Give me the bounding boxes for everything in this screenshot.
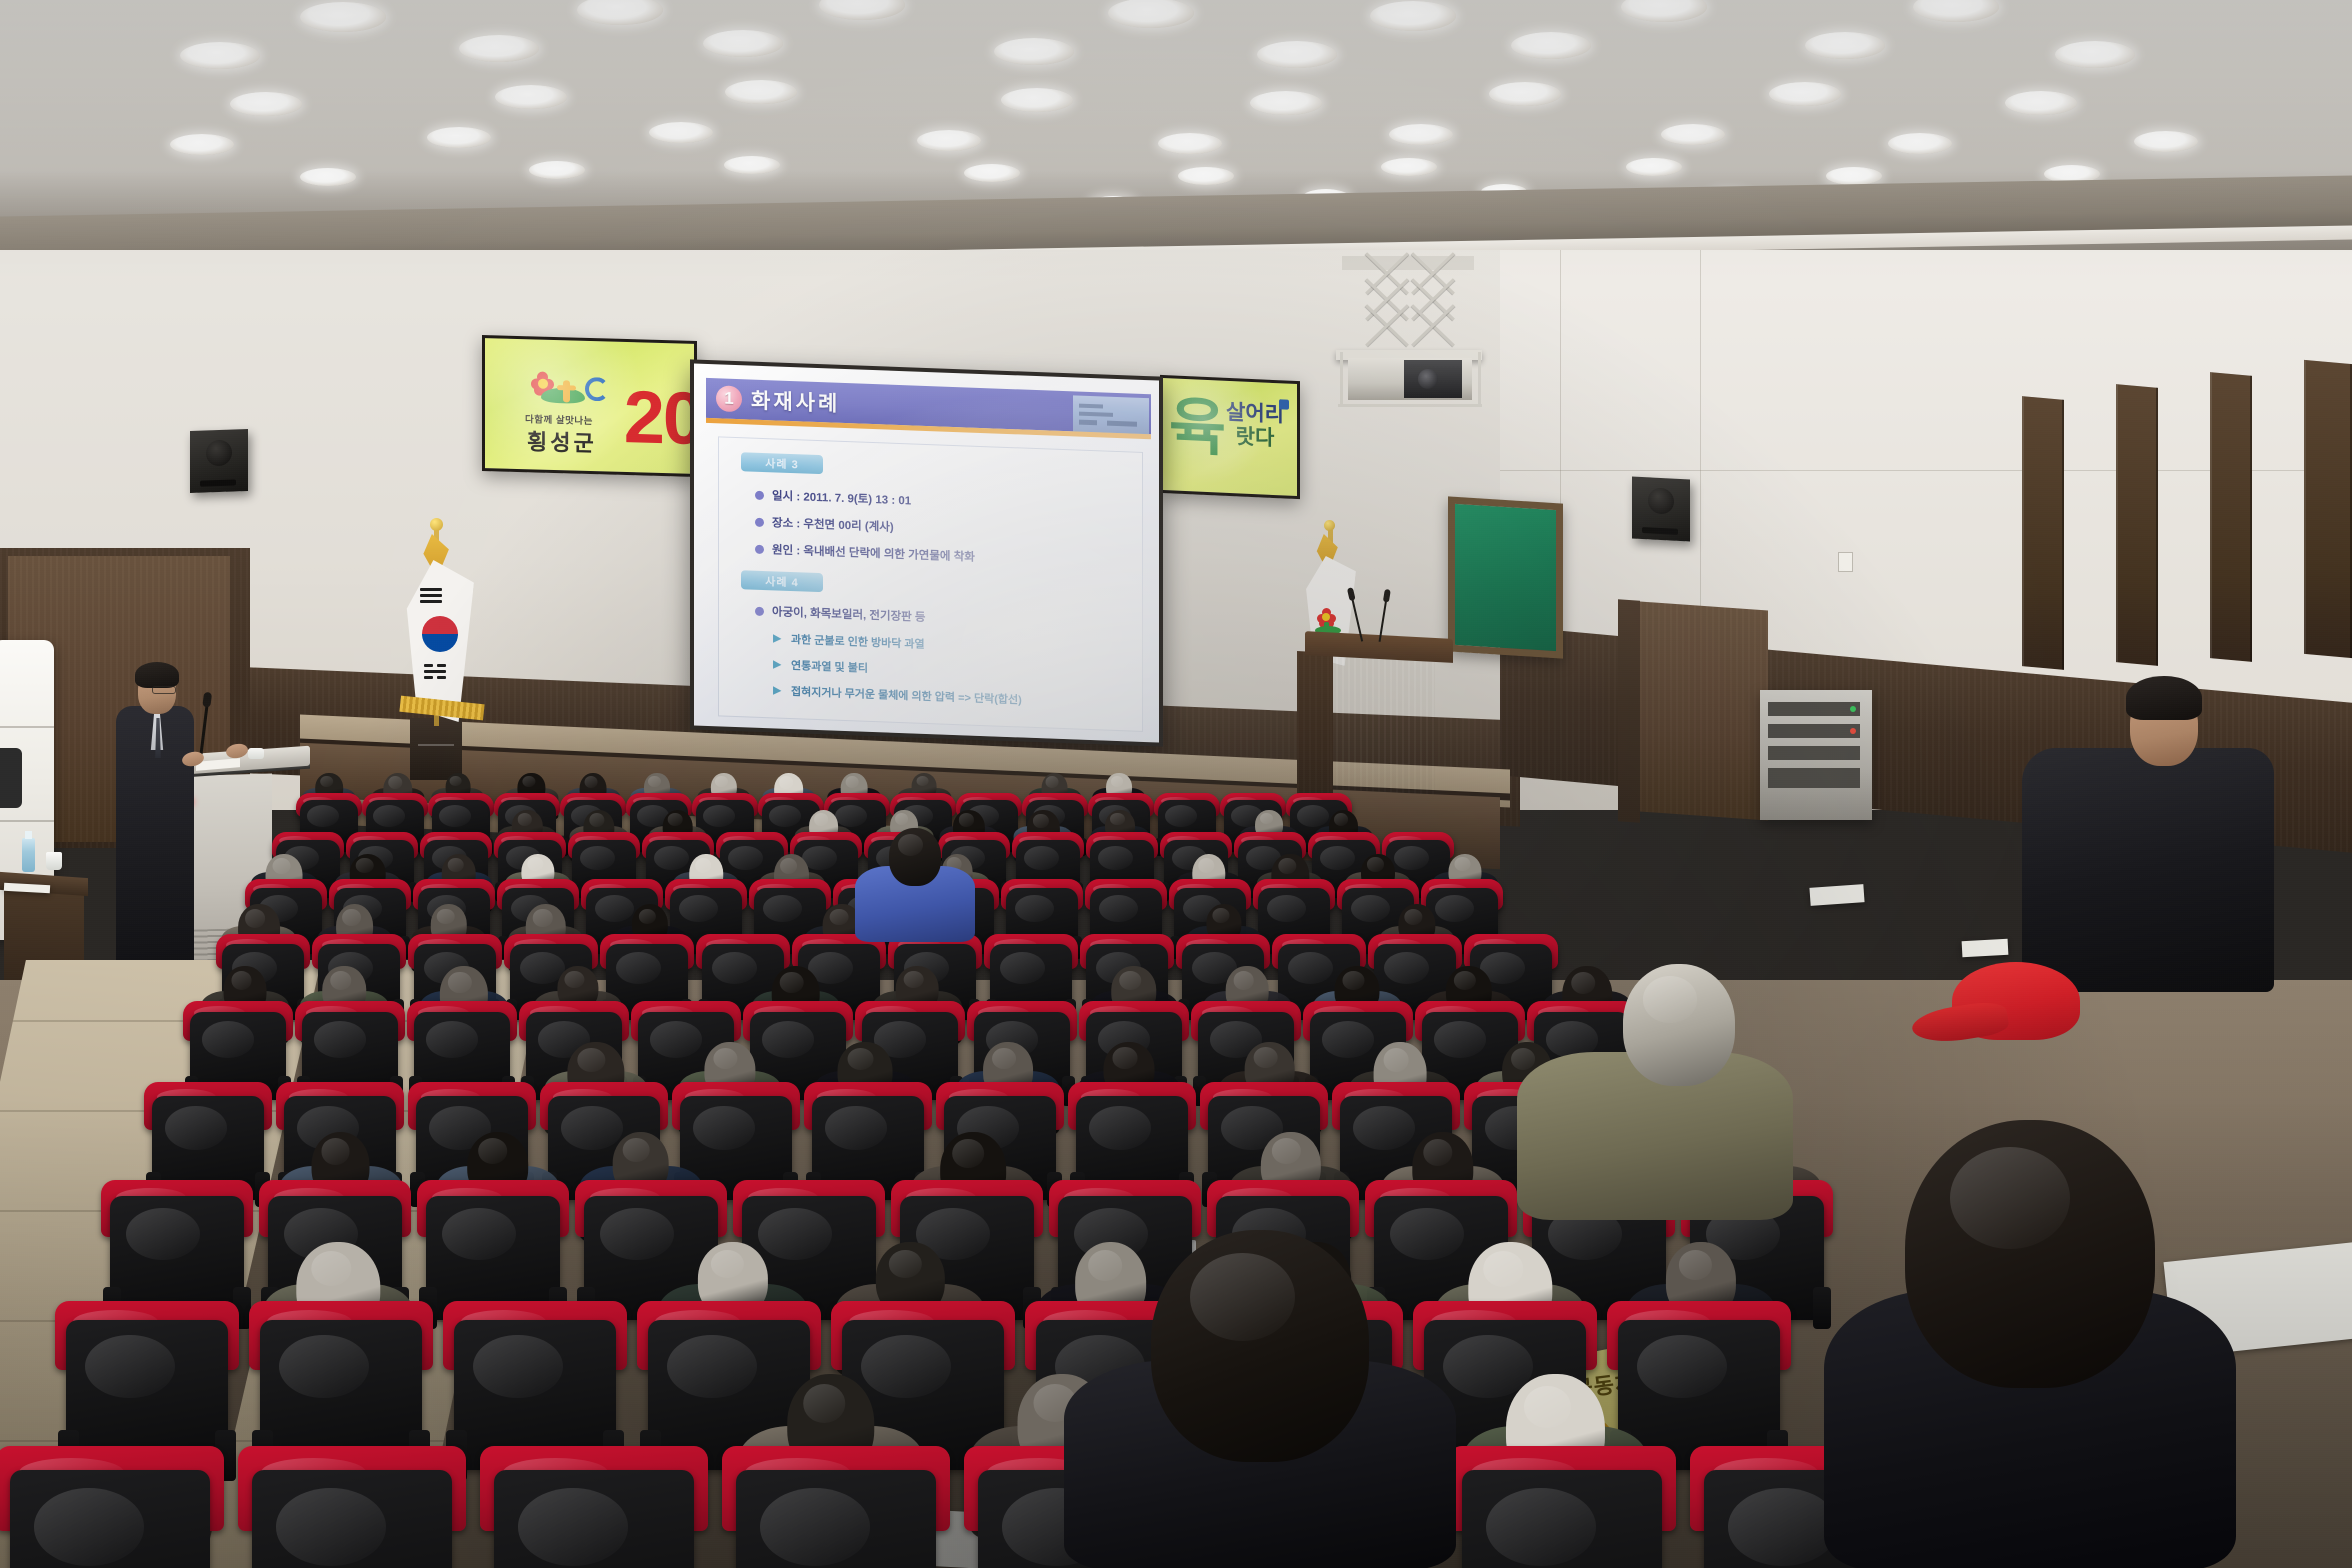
auditorium-seat[interactable] (10, 1470, 210, 1568)
slide-chip-bottom: 사례 4 (741, 570, 823, 592)
seat-back (736, 1470, 936, 1568)
slide-body: 사례 3 일시 : 2011. 7. 9(토) 13 : 01 장소 : 우천면… (718, 436, 1143, 732)
attendee-head (889, 828, 941, 886)
attendee-head (1905, 1120, 2155, 1388)
handout-sheet[interactable] (1809, 884, 1864, 906)
ceiling-downlight (724, 156, 780, 174)
auditorium-scene: 다함께 살맛나는 횡성군 20 육 살어리 랏다 1 화재사례 사 (0, 0, 2352, 1568)
presenter-glasses-icon (152, 686, 176, 694)
ceiling-downlight (180, 42, 260, 69)
slide-bullets-bottom: 아궁이, 화목보일러, 전기장판 등 ▶ 과한 군불로 인한 방바닥 과열 ▶ … (755, 603, 1022, 718)
banner-education: 육 살어리 랏다 (1160, 375, 1300, 499)
projection-screen: 1 화재사례 사례 3 일시 : 2011. 7. 9(토) 13 : 01 (694, 363, 1159, 742)
handout-sheet[interactable] (1962, 939, 2009, 957)
wall-recess-slot (2304, 360, 2352, 658)
banner-county-name: 횡성군 (527, 424, 597, 458)
projector-lens (1404, 360, 1462, 398)
bullet-text: 일시 : 2011. 7. 9(토) 13 : 01 (772, 487, 911, 508)
flower-icon (531, 371, 555, 396)
wall-recess-slot (2116, 384, 2158, 666)
ceiling-downlight (495, 85, 567, 109)
standing-man-hair (2126, 676, 2202, 720)
flag-finial-icon (430, 518, 443, 531)
ceiling-downlight (994, 38, 1074, 65)
ceiling-downlight (2005, 91, 2077, 115)
bullet-row: 아궁이, 화목보일러, 전기장판 등 (755, 603, 1022, 629)
bullet-text: 장소 : 우천면 00리 (계사) (772, 514, 894, 534)
presenter-hair (135, 662, 179, 688)
bullet-text: 아궁이, 화목보일러, 전기장판 등 (772, 603, 926, 625)
wall-speaker-left (190, 429, 248, 493)
ceiling-downlight (1661, 124, 1725, 145)
auditorium-seat[interactable] (252, 1470, 452, 1568)
auditorium-seat[interactable] (1462, 1470, 1662, 1568)
wall-recess-slot (2022, 396, 2064, 670)
ceiling-downlight (1370, 1, 1456, 31)
bullet-row-sub: ▶ 연통과열 및 불티 (773, 656, 1022, 681)
flag-finial-icon (1324, 520, 1335, 531)
lectern-side-panel (1297, 651, 1333, 801)
banner-edu-fragment: 육 (1169, 396, 1226, 461)
auditorium-seat[interactable] (736, 1470, 936, 1568)
ceiling-downlight (170, 134, 234, 155)
bullet-row: 장소 : 우천면 00리 (계사) (755, 514, 975, 538)
ceiling-downlight (1769, 82, 1841, 106)
hoengseong-logo (523, 371, 615, 408)
bullet-dot-icon (755, 606, 764, 615)
water-bottle[interactable] (22, 838, 35, 872)
calligraphy-line-2: 랏다 (1223, 425, 1287, 452)
banner-slogan: 다함께 살맛나는 (525, 411, 593, 427)
bullet-row: 원인 : 옥내배선 단락에 의한 가연물에 착화 (755, 541, 975, 565)
ceiling-downlight (1826, 167, 1882, 185)
ceiling-downlight (427, 127, 491, 148)
bullet-subtext: 접혀지거나 무거운 물체에 의한 압력 => 단락(합선) (791, 683, 1022, 707)
arrow-icon: ▶ (773, 686, 784, 695)
seat-back (1462, 1470, 1662, 1568)
bullet-row: 일시 : 2011. 7. 9(토) 13 : 01 (755, 487, 975, 511)
attendee-foreground-right (1820, 1120, 2240, 1568)
seat-back (252, 1470, 452, 1568)
attendee-foreground (1060, 1230, 1460, 1568)
projection-screen-frame: 1 화재사례 사례 3 일시 : 2011. 7. 9(토) 13 : 01 (690, 359, 1163, 746)
projector-frame-leg (1478, 352, 1481, 406)
door-frame-right (1618, 599, 1640, 823)
attendee-head (1151, 1230, 1369, 1462)
ceiling-downlight (300, 168, 356, 186)
slide-header-title: 화재사례 (751, 385, 840, 418)
person-icon (563, 380, 570, 402)
projector-frame-leg (1340, 352, 1343, 406)
slide-chip-top: 사례 3 (741, 452, 823, 474)
bullet-subtext: 연통과열 및 불티 (791, 657, 868, 676)
bullet-row-sub: ▶ 과한 군불로 인한 방바닥 과열 (773, 630, 1022, 655)
ceiling-downlight (1626, 158, 1682, 176)
wall-recess-slot (2210, 372, 2252, 662)
banner-year-fragment: 20 (624, 380, 697, 456)
arrow-icon: ▶ (773, 634, 784, 643)
av-equipment-rack[interactable] (1760, 690, 1872, 820)
leaf-icon (541, 388, 585, 404)
podium-cup[interactable] (248, 748, 264, 759)
slide-bullets-top: 일시 : 2011. 7. 9(토) 13 : 01 장소 : 우천면 00리 … (755, 487, 975, 576)
attendee-olive-coat (1510, 960, 1800, 1220)
bullet-subtext: 과한 군불로 인한 방바닥 과열 (791, 631, 925, 652)
wall-thermostat[interactable] (1838, 552, 1853, 572)
calligraphy-logo: 살어리 랏다 (1223, 401, 1287, 466)
slide-badge-number: 1 (716, 385, 742, 412)
wall-speaker-right (1632, 476, 1690, 541)
projector-frame-bar (1338, 404, 1482, 407)
standing-man-coat (2022, 748, 2274, 992)
calligraphy-line-1: 살어리 (1223, 401, 1287, 428)
arrow-icon: ▶ (773, 660, 784, 669)
ac-vent (0, 748, 22, 808)
ceiling-downlight (649, 122, 713, 143)
ceiling-downlight (2055, 41, 2135, 68)
swirl-icon (585, 377, 609, 402)
green-notice-board (1448, 496, 1563, 658)
bullet-dot-icon (755, 490, 764, 499)
attendee-blue-jacket (850, 822, 980, 942)
paper-cup[interactable] (46, 852, 62, 870)
ceiling-downlight (725, 80, 797, 104)
door-right[interactable] (1640, 602, 1768, 821)
bullet-text: 원인 : 옥내배선 단락에 의한 가연물에 착화 (772, 541, 975, 564)
bullet-dot-icon (755, 517, 764, 526)
seat-back (10, 1470, 210, 1568)
ceiling-downlight (1888, 133, 1952, 154)
auditorium-seat[interactable] (494, 1470, 694, 1568)
attendee-head (1623, 964, 1735, 1086)
ceiling-downlight (1805, 32, 1885, 59)
taeguk-symbol-icon (422, 616, 458, 652)
seal-mark-icon (1279, 399, 1289, 409)
ceiling-downlight (230, 92, 302, 116)
projector-scissor-lift (1358, 266, 1462, 354)
ceiling-downlight (2134, 131, 2198, 152)
bullet-dot-icon (755, 544, 764, 553)
banner-hoengseong: 다함께 살맛나는 횡성군 20 (482, 335, 697, 477)
bullet-row-sub: ▶ 접혀지거나 무거운 물체에 의한 압력 => 단락(합선) (773, 682, 1022, 707)
seat-back (494, 1470, 694, 1568)
ceiling-downlight (300, 2, 386, 32)
lectern-body (1330, 649, 1435, 795)
